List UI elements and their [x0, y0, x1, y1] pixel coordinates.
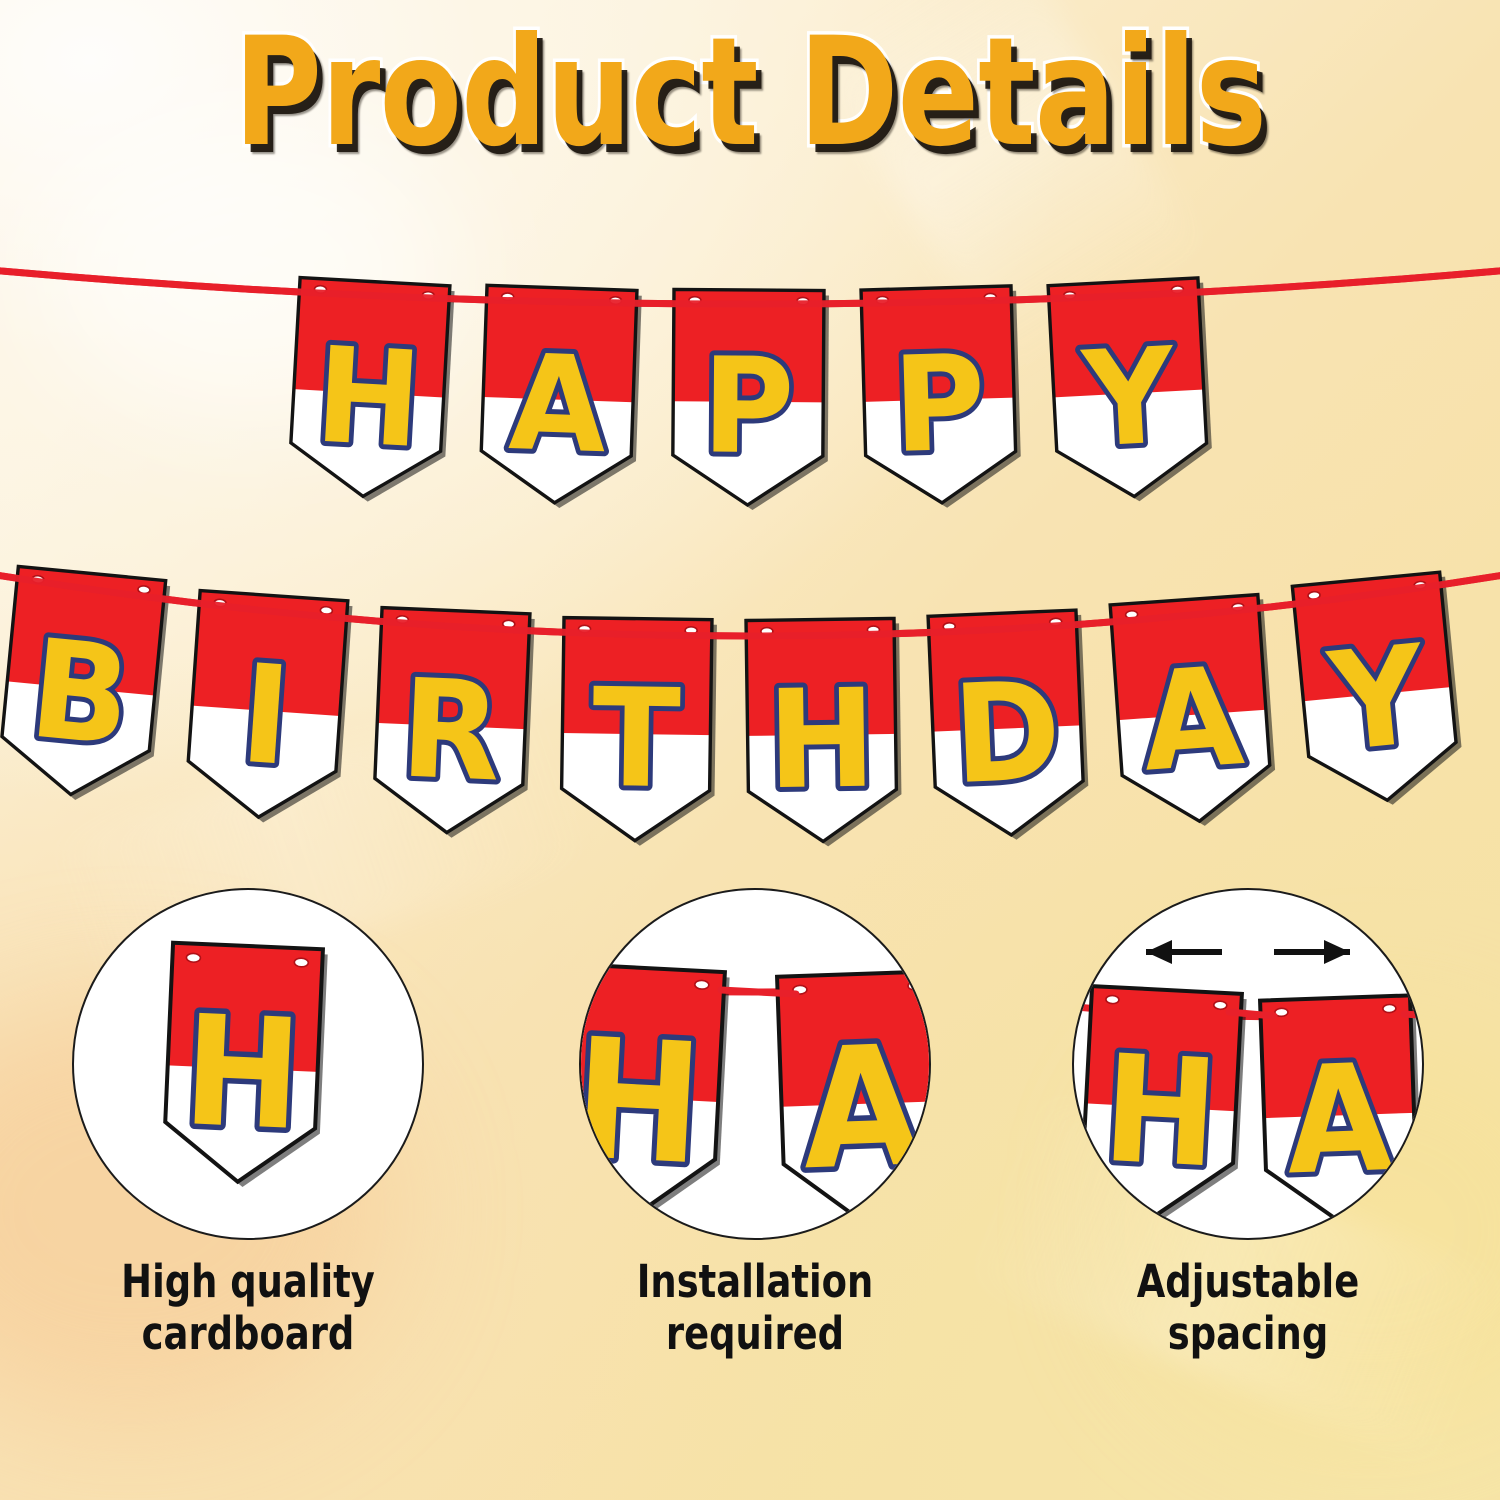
svg-text:B: B [24, 610, 137, 777]
feature-caption-1: Installation required [607, 1256, 902, 1360]
banner-flag: Y [1048, 278, 1214, 506]
feature-icon-circle-0: H [72, 888, 424, 1240]
page-title-container: Product Details [0, 18, 1500, 168]
feature-list: H High quality cardboard HA Installation… [0, 888, 1500, 1448]
banner-flag: A [1110, 594, 1278, 831]
svg-text:A: A [799, 1009, 924, 1207]
banner-flag: R [373, 608, 535, 841]
feature-installation-required: HA Installation required [575, 888, 935, 1360]
svg-text:H: H [767, 661, 877, 820]
feature-high-quality-cardboard: H High quality cardboard [68, 888, 428, 1360]
flag-graphic: H [1080, 986, 1247, 1225]
feature-adjustable-spacing: HA Adjustable spacing [1068, 888, 1428, 1360]
banner-flag: H [746, 618, 902, 847]
svg-text:A: A [1137, 638, 1248, 802]
svg-text:R: R [398, 650, 504, 812]
two-flags-threaded-icon: HA [581, 890, 929, 1238]
flag-graphic: A [777, 971, 929, 1232]
svg-text:D: D [950, 653, 1064, 815]
banner-flag: A [479, 285, 642, 510]
single-flag-icon: H [74, 890, 422, 1238]
svg-text:H: H [581, 1002, 707, 1202]
feature-caption-0: High quality cardboard [100, 1256, 395, 1360]
two-flags-arrows-icon: HA [1074, 890, 1422, 1238]
banner-row-birthday-svg: BIRTHDAY [0, 518, 1500, 828]
banner-flag: B [0, 566, 171, 807]
svg-text:H: H [180, 983, 305, 1165]
feature-icon-circle-2: HA [1072, 888, 1424, 1240]
svg-text:A: A [1284, 1032, 1395, 1208]
flag-graphic: H [581, 964, 730, 1227]
svg-text:Y: Y [1078, 320, 1180, 478]
banner-flag: H [288, 278, 455, 506]
banner-flag: T [561, 618, 717, 847]
arrow-right-icon [1274, 940, 1350, 964]
flag-graphic: A [1260, 995, 1422, 1231]
svg-text:T: T [591, 660, 681, 819]
feature-icon-circle-1: HA [579, 888, 931, 1240]
banner-flag: Y [1292, 572, 1466, 813]
flag-graphic: H [163, 943, 328, 1191]
svg-text:A: A [507, 327, 609, 483]
feature-caption-2: Adjustable spacing [1100, 1256, 1395, 1360]
page-title: Product Details [234, 18, 1266, 168]
svg-text:Y: Y [1322, 616, 1434, 783]
svg-text:P: P [891, 327, 987, 482]
banner-flag: I [184, 591, 352, 828]
arrow-left-icon [1146, 940, 1222, 964]
banner-flag: D [928, 610, 1090, 843]
svg-text:H: H [1099, 1022, 1222, 1201]
banner-row-happy-svg: HAPPY [0, 208, 1500, 508]
svg-text:H: H [312, 320, 425, 478]
banner-flag: P [672, 289, 829, 510]
product-detail-image: Product Details HAPPY BIRTHDAY H High qu… [0, 0, 1500, 1500]
banner-flag: P [861, 286, 1022, 510]
banner-row-birthday: BIRTHDAY [0, 518, 1500, 828]
banner-row-happy: HAPPY [0, 208, 1500, 508]
svg-text:P: P [702, 331, 795, 484]
